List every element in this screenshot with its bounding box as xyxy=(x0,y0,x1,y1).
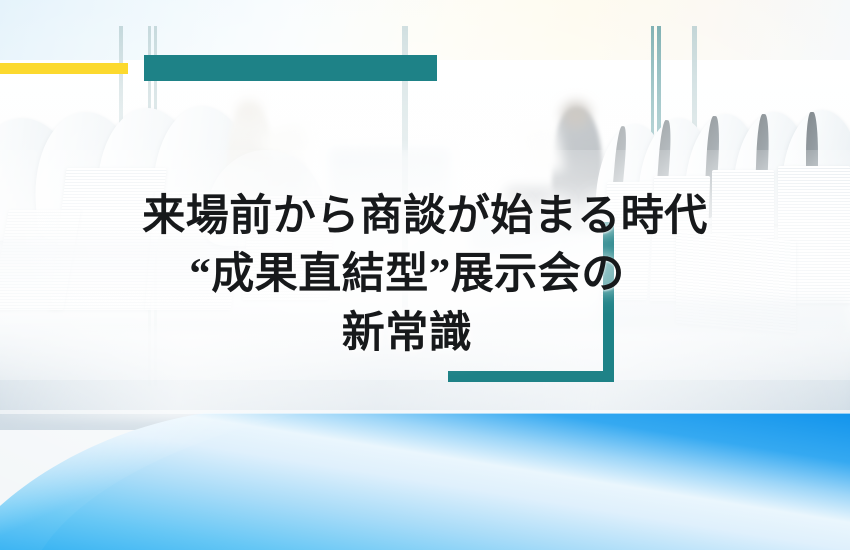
title-line-1: 来場前から商談が始まる時代 xyxy=(0,188,850,246)
title-line-3: 新常識 xyxy=(0,305,850,363)
banner-title: 来場前から商談が始まる時代 “成果直結型”展示会の 新常識 xyxy=(0,188,850,363)
bottom-wave-decoration xyxy=(0,410,850,550)
banner-root: 来場前から商談が始まる時代 “成果直結型”展示会の 新常識 xyxy=(0,0,850,550)
accent-bar-yellow xyxy=(0,63,128,74)
title-line-2: “成果直結型”展示会の xyxy=(0,246,850,304)
corner-bracket-horizontal xyxy=(448,371,614,382)
accent-bar-teal xyxy=(144,55,437,81)
